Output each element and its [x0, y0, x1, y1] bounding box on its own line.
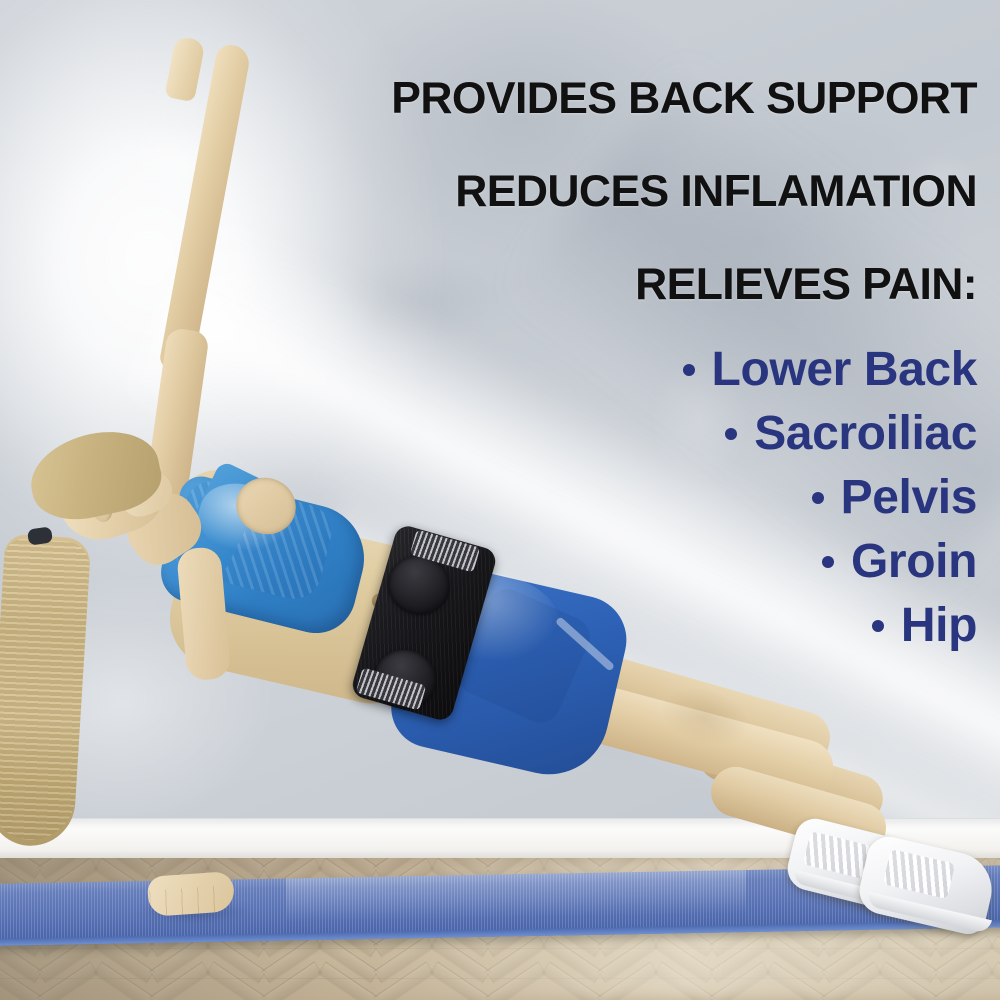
supporting-forearm: [178, 661, 226, 894]
ponytail-strands: [0, 538, 91, 843]
athlete-figure: [0, 0, 1000, 1000]
raised-hand: [164, 36, 205, 103]
product-marketing-image: PROVIDES BACK SUPPORT REDUCES INFLAMATIO…: [0, 0, 1000, 1000]
